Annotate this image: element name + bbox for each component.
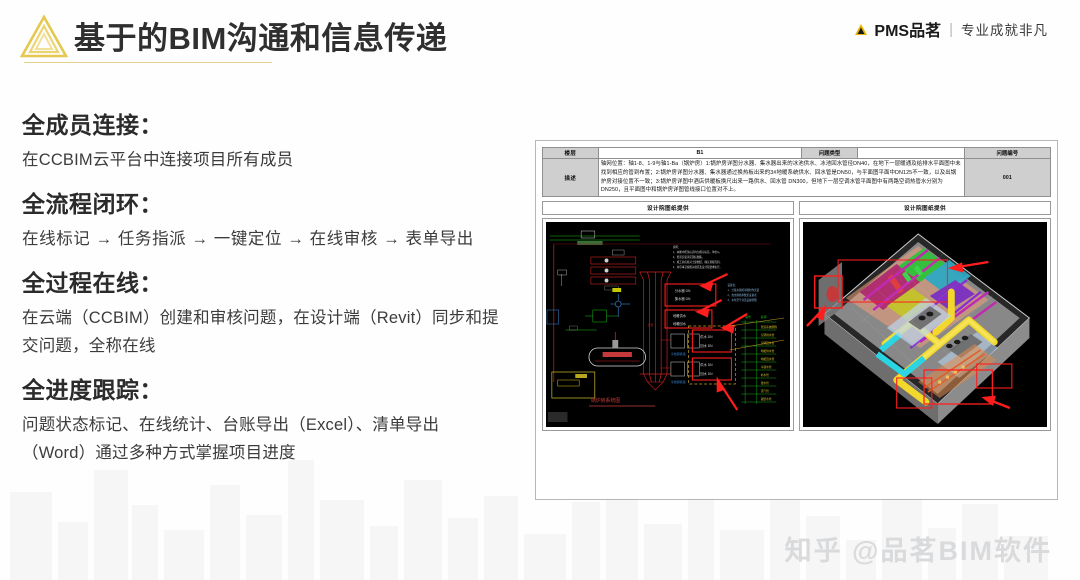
svg-text:1、分集水器按详图制作安装: 1、分集水器按详图制作安装 <box>728 288 760 292</box>
section-body: 在CCBIM云平台中连接项目所有成员 <box>22 147 502 175</box>
zhihu-watermark: 知乎 @品茗BIM软件 <box>785 529 1052 568</box>
svg-text:凝结水管: 凝结水管 <box>761 397 772 401</box>
svg-text:1、本图中所注标高均为相对标高，单位m。: 1、本图中所注标高均为相对标高，单位m。 <box>673 250 722 254</box>
issue-number-value: 001 <box>964 159 1050 197</box>
table-row: 描述 轴网位置：轴1-8、1-9与轴1-Ba（锅炉房）1:锅炉房详图分水器、集水… <box>543 159 1051 197</box>
svg-text:供水 DN: 供水 DN <box>700 362 713 367</box>
pms-triangle-mark-icon <box>854 23 868 36</box>
slide-header: 基于的BIM沟通和信息传递 PMS品茗 | 专业成就非凡 <box>0 0 1080 72</box>
brand-logo: PMS品茗 | 专业成就非凡 <box>854 17 1048 41</box>
section-title: 全过程在线： <box>22 266 502 301</box>
issue-table: 楼层 B1 问题类型 问题编号 描述 轴网位置：轴1-8、1-9与轴1-Ba（锅… <box>542 147 1051 197</box>
svg-text:3、水泵型号详见设备明细: 3、水泵型号详见设备明细 <box>728 298 758 302</box>
svg-text:地暖供水管: 地暖供水管 <box>761 349 775 353</box>
section-title: 全成员连接： <box>22 108 502 143</box>
issue-type-label: 问题类型 <box>802 148 858 159</box>
svg-text:锅炉房系统图: 锅炉房系统图 <box>591 397 620 404</box>
caption-right: 设计院图纸提供 <box>799 201 1051 215</box>
svg-text:地暖供水: 地暖供水 <box>673 313 687 318</box>
section-title: 全流程闭环： <box>22 187 502 222</box>
feature-section-members: 全成员连接： 在CCBIM云平台中连接项目所有成员 <box>22 108 502 174</box>
svg-text:说明：: 说明： <box>673 245 681 249</box>
svg-text:蒸汽管: 蒸汽管 <box>761 389 769 393</box>
cad-piping-drawing: 冷热源机组 冷热源机组 分水器 DN 集水器 DN 地暖供水 地暖回水 供水 D… <box>546 222 790 427</box>
cad-drawing-frame[interactable]: 冷热源机组 冷热源机组 分水器 DN 集水器 DN 地暖供水 地暖回水 供水 D… <box>542 218 794 431</box>
svg-text:2、管道安装详见国标图集。: 2、管道安装详见国标图集。 <box>673 255 705 259</box>
svg-text:冷凝水管: 冷凝水管 <box>761 365 772 369</box>
feature-section-online: 全过程在线： 在云端（CCBIM）创建和审核问题，在设计端（Revit）同步和提… <box>22 266 502 360</box>
svg-text:地暖回水管: 地暖回水管 <box>761 357 775 361</box>
svg-text:立管: 立管 <box>648 322 654 327</box>
slide-root: 基于的BIM沟通和信息传递 PMS品茗 | 专业成就非凡 全成员连接： 在CCB… <box>0 0 1080 580</box>
svg-text:名称: 名称 <box>761 314 767 319</box>
description-value: 轴网位置：轴1-8、1-9与轴1-Ba（锅炉房）1:锅炉房详图分水器、集水器出来… <box>598 159 964 197</box>
svg-text:2、热交换器参数见设备表: 2、热交换器参数见设备表 <box>728 293 758 297</box>
caption-left: 设计院图纸提供 <box>542 201 794 215</box>
svg-text:4、未尽事宜按相关规范及设计院要求执行。: 4、未尽事宜按相关规范及设计院要求执行。 <box>673 265 722 269</box>
bim-model-frame[interactable] <box>799 218 1051 431</box>
svg-text:补水管: 补水管 <box>761 373 769 377</box>
image-row: 冷热源机组 冷热源机组 分水器 DN 集水器 DN 地暖供水 地暖回水 供水 D… <box>542 218 1051 431</box>
svg-text:设备表：: 设备表： <box>728 283 738 287</box>
brand-name: PMS品茗 <box>874 17 941 41</box>
svg-text:管道系统图例: 管道系统图例 <box>761 325 778 329</box>
svg-text:回水 DN: 回水 DN <box>700 371 713 376</box>
feature-section-workflow: 全流程闭环： 在线标记 → 任务指派 → 一键定位 → 在线审核 → 表单导出 <box>22 187 502 253</box>
page-title: 基于的BIM沟通和信息传递 <box>74 13 447 58</box>
table-row: 楼层 B1 问题类型 问题编号 <box>543 148 1051 159</box>
description-label: 描述 <box>543 159 599 197</box>
svg-text:回水 DN: 回水 DN <box>700 343 713 348</box>
brand-tagline: 专业成就非凡 <box>961 19 1048 39</box>
bim-3d-model <box>803 222 1047 427</box>
section-body: 问题状态标记、在线统计、台账导出（Excel）、清单导出（Word）通过多种方式… <box>22 412 502 467</box>
floor-label: 楼层 <box>543 148 599 159</box>
section-body: 在云端（CCBIM）创建和审核问题，在设计端（Revit）同步和提交问题，全称在… <box>22 305 502 360</box>
section-title: 全进度跟踪： <box>22 373 502 408</box>
svg-text:泄水管: 泄水管 <box>761 381 769 385</box>
svg-text:空调供水管: 空调供水管 <box>761 333 775 337</box>
section-body: 在线标记 → 任务指派 → 一键定位 → 在线审核 → 表单导出 <box>22 226 502 254</box>
feature-list: 全成员连接： 在CCBIM云平台中连接项目所有成员 全流程闭环： 在线标记 → … <box>22 108 502 480</box>
issue-type-value <box>857 148 964 159</box>
svg-text:地暖回水: 地暖回水 <box>673 321 687 326</box>
triangle-warning-icon <box>20 14 68 58</box>
svg-text:冷热源机组: 冷热源机组 <box>671 351 686 356</box>
issue-number-label: 问题编号 <box>964 148 1050 159</box>
floor-value: B1 <box>598 148 801 159</box>
svg-text:集水器 DN: 集水器 DN <box>675 296 691 301</box>
svg-text:分水器 DN: 分水器 DN <box>675 288 691 293</box>
svg-text:供水 DN: 供水 DN <box>700 334 713 339</box>
feature-section-progress: 全进度跟踪： 问题状态标记、在线统计、台账导出（Excel）、清单导出（Word… <box>22 373 502 467</box>
title-underline <box>24 62 272 63</box>
svg-text:3、施工前应核对土建图纸，确认预留孔洞。: 3、施工前应核对土建图纸，确认预留孔洞。 <box>673 260 722 264</box>
image-captions: 设计院图纸提供 设计院图纸提供 <box>542 201 1051 215</box>
issue-report-panel: 楼层 B1 问题类型 问题编号 描述 轴网位置：轴1-8、1-9与轴1-Ba（锅… <box>535 140 1058 500</box>
svg-text:编号: 编号 <box>745 314 751 319</box>
svg-text:冷热源机组: 冷热源机组 <box>671 379 686 384</box>
brand-separator: | <box>949 21 953 38</box>
